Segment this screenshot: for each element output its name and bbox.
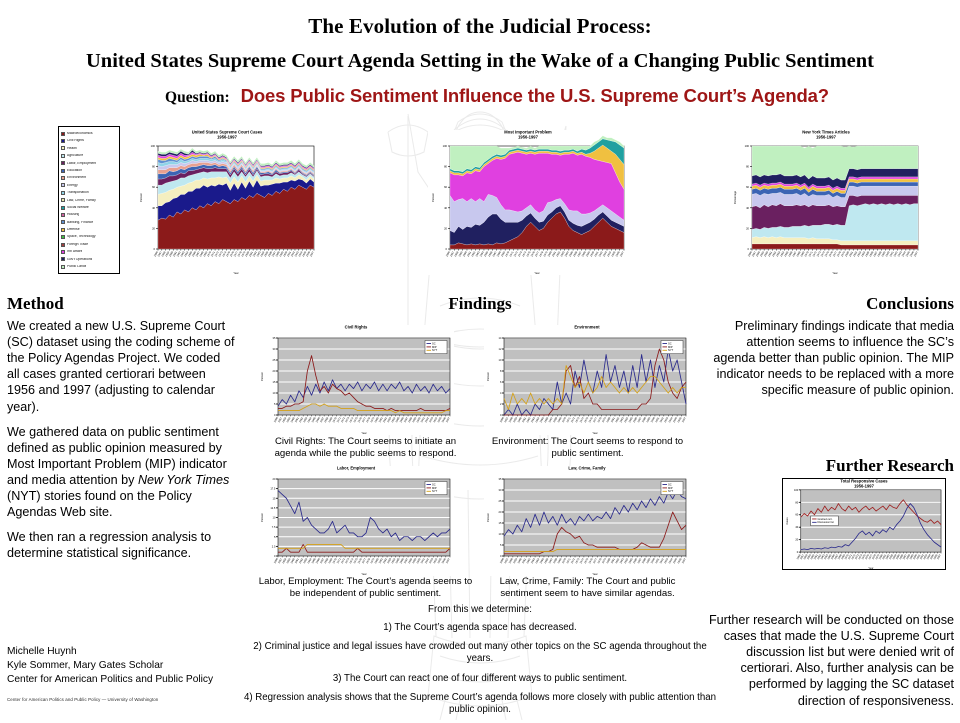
legend-swatch <box>61 161 65 165</box>
svg-text:35: 35 <box>273 336 276 340</box>
svg-text:80: 80 <box>152 165 155 169</box>
svg-text:20: 20 <box>795 538 798 542</box>
svg-text:60: 60 <box>152 185 155 189</box>
legend-item: Int'l Affairs <box>61 248 117 255</box>
svg-text:MIP: MIP <box>668 486 673 490</box>
question-text: Does Public Sentiment Influence the U.S.… <box>241 85 829 107</box>
legend-swatch <box>61 169 65 173</box>
legend-label: Energy <box>67 184 78 187</box>
legend-swatch <box>61 250 65 254</box>
svg-text:Year: Year <box>233 271 238 275</box>
legend-item: Banking, Finance <box>61 219 117 226</box>
svg-text:12: 12 <box>499 347 502 351</box>
further-research-text: Further research will be conducted on th… <box>708 612 954 709</box>
legend-item: Space, Technology <box>61 233 117 240</box>
legend-swatch <box>61 213 65 217</box>
caption-environment: Environment: The Court seems to respond … <box>480 436 695 460</box>
legend-label: Environment <box>67 176 86 179</box>
legend-item: Foreign Trade <box>61 241 117 248</box>
chart-environment-plot: 02468101214Percent1956195719581959196019… <box>484 325 690 435</box>
svg-text:80: 80 <box>746 165 749 169</box>
chart-environment: Environment 02468101214Percent1956195719… <box>484 325 690 435</box>
conclusions-text: Preliminary findings indicate that media… <box>708 318 954 399</box>
svg-text:40: 40 <box>795 525 798 529</box>
legend-label: Space, Technology <box>67 235 96 238</box>
chart-mip-title: Most Important Problem1956-1997 <box>473 130 583 139</box>
legend-label: Int'l Affairs <box>67 250 82 253</box>
svg-text:SC: SC <box>668 341 672 345</box>
findings-heading: Findings <box>0 294 960 314</box>
conclusions-body: Preliminary findings indicate that media… <box>708 318 954 399</box>
chart-nyt-title: New York Times Articles1956-1997 <box>773 130 879 139</box>
caption-law-crime-family: Law, Crime, Family: The Court and public… <box>480 576 695 600</box>
svg-text:14: 14 <box>499 336 502 340</box>
legend-swatch <box>61 257 65 261</box>
legend-label: Agriculture <box>67 154 83 157</box>
svg-text:12.5: 12.5 <box>270 506 276 510</box>
svg-text:2.5: 2.5 <box>272 544 276 548</box>
svg-text:2: 2 <box>500 402 502 406</box>
chart-sc-cases-title: United States Supreme Court Cases1956-19… <box>177 130 277 139</box>
svg-text:0: 0 <box>154 247 156 251</box>
legend-label: Education <box>67 169 82 172</box>
method-p2-part-b: (NYT) stories found on the Policy Agenda… <box>7 489 192 519</box>
method-paragraph-1: We created a new U.S. Supreme Court (SC)… <box>7 318 235 415</box>
legend-item: Environment <box>61 174 117 181</box>
svg-text:Year: Year <box>592 431 597 435</box>
svg-text:15: 15 <box>273 380 276 384</box>
svg-text:NYT: NYT <box>432 348 438 352</box>
legend-label: Banking, Finance <box>67 221 93 224</box>
svg-text:Year: Year <box>534 271 539 275</box>
svg-text:35: 35 <box>499 477 502 481</box>
svg-text:20: 20 <box>746 226 749 230</box>
legend-swatch <box>61 198 65 202</box>
legend-item: Labor, Employment <box>61 160 117 167</box>
legend-item: Social Welfare <box>61 204 117 211</box>
chart-nyt: New York Times Articles1956-1997 0204060… <box>730 130 922 275</box>
svg-text:0: 0 <box>500 413 502 417</box>
legend-swatch <box>61 146 65 150</box>
svg-text:0: 0 <box>797 550 799 554</box>
svg-text:20: 20 <box>152 226 155 230</box>
svg-text:Percent: Percent <box>139 193 143 202</box>
legend-swatch <box>61 176 65 180</box>
svg-text:5: 5 <box>274 402 276 406</box>
svg-text:NYT: NYT <box>668 348 674 352</box>
svg-text:60: 60 <box>444 185 447 189</box>
svg-text:Percentage: Percentage <box>733 190 737 204</box>
chart-civil-rights: Civil Rights 05101520253035Percent195619… <box>258 325 454 435</box>
determination-item: 1) The Court’s agenda space has decrease… <box>240 622 720 634</box>
chart-sc-cases-plot: 020406080100Percent195619571958195919601… <box>136 130 318 275</box>
legend-swatch <box>61 265 65 269</box>
poster-title-line1: The Evolution of the Judicial Process: <box>0 14 960 39</box>
chart-further-research: Total Responsive Cases1956-1997 02040608… <box>782 478 946 570</box>
svg-text:100: 100 <box>745 144 750 148</box>
svg-text:Percent: Percent <box>431 193 435 202</box>
policy-topics-legend: MacroeconomicsCivil RightsHealthAgricult… <box>58 126 120 274</box>
chart-law-crime-family-plot: 05101520253035Percent1956195719581959196… <box>484 466 690 576</box>
svg-text:20: 20 <box>273 369 276 373</box>
legend-swatch <box>61 183 65 187</box>
chart-further-research-plot: 020406080100Cases19561957195819591960196… <box>783 479 945 570</box>
svg-text:40: 40 <box>444 206 447 210</box>
svg-text:10: 10 <box>499 532 502 536</box>
question-label: Question: <box>165 89 230 107</box>
legend-item: Gov't Operations <box>61 256 117 263</box>
poster-title-line2: United States Supreme Court Agenda Setti… <box>0 50 960 73</box>
method-paragraph-2: We gathered data on public sentiment def… <box>7 424 235 521</box>
legend-swatch <box>61 191 65 195</box>
chart-further-research-title: Total Responsive Cases1956-1997 <box>819 479 908 488</box>
svg-text:8: 8 <box>500 369 502 373</box>
poster-header: The Evolution of the Judicial Process: U… <box>0 0 960 107</box>
chart-mip: Most Important Problem1956-1997 02040608… <box>428 130 628 275</box>
svg-text:40: 40 <box>746 206 749 210</box>
legend-item: Public Lands <box>61 263 117 270</box>
svg-text:15: 15 <box>499 521 502 525</box>
svg-text:0: 0 <box>748 247 750 251</box>
svg-text:0: 0 <box>274 413 276 417</box>
legend-swatch <box>61 154 65 158</box>
svg-text:Discussion list: Discussion list <box>818 520 834 524</box>
svg-text:SC: SC <box>432 341 436 345</box>
further-research-body: Further research will be conducted on th… <box>708 612 954 709</box>
svg-text:4: 4 <box>500 391 502 395</box>
svg-text:NYT: NYT <box>668 489 674 493</box>
legend-label: Public Lands <box>67 265 86 268</box>
legend-swatch <box>61 220 65 224</box>
legend-item: Defense <box>61 226 117 233</box>
legend-item: Transportation <box>61 189 117 196</box>
legend-label: Gov't Operations <box>67 258 92 261</box>
svg-text:20: 20 <box>499 510 502 514</box>
svg-text:20: 20 <box>273 477 276 481</box>
svg-text:25: 25 <box>499 499 502 503</box>
legend-item: Law, Crime, Family <box>61 197 117 204</box>
legend-label: Law, Crime, Family <box>67 199 96 202</box>
svg-text:NYT: NYT <box>432 489 438 493</box>
svg-text:10: 10 <box>273 516 276 520</box>
svg-text:Year: Year <box>832 271 837 275</box>
method-paragraph-3: We then ran a regression analysis to det… <box>7 529 235 561</box>
svg-text:20: 20 <box>444 226 447 230</box>
chart-civil-rights-plot: 05101520253035Percent1956195719581959196… <box>258 325 454 435</box>
legend-label: Transportation <box>67 191 89 194</box>
chart-nyt-plot: 020406080100Percentage195619571958195919… <box>730 130 922 275</box>
svg-text:40: 40 <box>152 206 155 210</box>
svg-text:6: 6 <box>500 380 502 384</box>
legend-swatch <box>61 235 65 239</box>
legend-swatch <box>61 139 65 143</box>
svg-text:80: 80 <box>444 165 447 169</box>
caption-civil-rights: Civil Rights: The Court seems to initiat… <box>258 436 473 460</box>
svg-text:17.5: 17.5 <box>270 487 276 491</box>
chart-civil-rights-title: Civil Rights <box>302 325 410 330</box>
svg-text:MIP: MIP <box>668 345 673 349</box>
svg-text:SC: SC <box>432 482 436 486</box>
svg-text:60: 60 <box>746 185 749 189</box>
legend-label: Foreign Trade <box>67 243 88 246</box>
chart-labor-employment-plot: 02.557.51012.51517.520Percent19561957195… <box>258 466 454 576</box>
determinations-lead: From this we determine: <box>240 604 720 615</box>
legend-label: Health <box>67 147 77 150</box>
legend-item: Housing <box>61 211 117 218</box>
determination-item: 4) Regression analysis shows that the Su… <box>240 692 720 716</box>
svg-text:100: 100 <box>794 488 799 492</box>
legend-swatch <box>61 132 65 136</box>
svg-text:Year: Year <box>361 431 366 435</box>
svg-text:0: 0 <box>446 247 448 251</box>
legend-item: Macroeconomics <box>61 130 117 137</box>
svg-text:SC: SC <box>668 482 672 486</box>
svg-text:7.5: 7.5 <box>272 525 276 529</box>
svg-text:100: 100 <box>443 144 448 148</box>
chart-labor-employment: Labor, Employment 02.557.51012.51517.520… <box>258 466 454 576</box>
legend-label: Macroeconomics <box>67 132 93 135</box>
svg-text:Percent: Percent <box>486 513 490 522</box>
legend-item: Energy <box>61 182 117 189</box>
determination-item: 2) Criminal justice and legal issues hav… <box>240 641 720 665</box>
svg-text:5: 5 <box>500 543 502 547</box>
svg-text:25: 25 <box>273 358 276 362</box>
chart-law-crime-family: Law, Crime, Family 05101520253035Percent… <box>484 466 690 576</box>
determinations-list: From this we determine: 1) The Court’s a… <box>240 604 720 723</box>
legend-item: Education <box>61 167 117 174</box>
determination-item: 3) The Court can react one of four diffe… <box>240 673 720 685</box>
svg-text:10: 10 <box>273 391 276 395</box>
legend-item: Health <box>61 145 117 152</box>
svg-text:Percent: Percent <box>260 513 264 522</box>
svg-text:0: 0 <box>274 554 276 558</box>
legend-label: Social Welfare <box>67 206 89 209</box>
conclusions-heading: Conclusions <box>866 294 954 314</box>
research-question-row: Question: Does Public Sentiment Influenc… <box>0 85 960 107</box>
svg-text:15: 15 <box>273 496 276 500</box>
legend-swatch <box>61 228 65 232</box>
svg-text:MIP: MIP <box>432 345 437 349</box>
chart-mip-plot: 020406080100Percent195619571958195919601… <box>428 130 628 275</box>
nyt-title-italic: New York Times <box>138 473 229 487</box>
legend-swatch <box>61 206 65 210</box>
svg-text:30: 30 <box>499 488 502 492</box>
legend-label: Housing <box>67 213 79 216</box>
legend-label: Defense <box>67 228 80 231</box>
legend-label: Civil Rights <box>67 139 84 142</box>
legend-label: Labor, Employment <box>67 162 96 165</box>
method-body: We created a new U.S. Supreme Court (SC)… <box>7 318 235 562</box>
svg-text:Year: Year <box>868 566 873 570</box>
caption-labor-employment: Labor, Employment: The Court’s agenda se… <box>258 576 473 600</box>
legend-item: Agriculture <box>61 152 117 159</box>
svg-text:MIP: MIP <box>432 486 437 490</box>
svg-text:30: 30 <box>273 347 276 351</box>
svg-text:Percent: Percent <box>486 372 490 381</box>
further-research-heading: Further Research <box>826 456 954 476</box>
svg-text:10: 10 <box>499 358 502 362</box>
chart-labor-employment-title: Labor, Employment <box>302 466 410 471</box>
legend-item: Civil Rights <box>61 137 117 144</box>
legend-swatch <box>61 243 65 247</box>
svg-text:100: 100 <box>151 144 156 148</box>
svg-text:80: 80 <box>795 500 798 504</box>
svg-text:Percent: Percent <box>260 372 264 381</box>
svg-text:Cases: Cases <box>785 517 789 525</box>
chart-sc-cases: United States Supreme Court Cases1956-19… <box>136 130 318 275</box>
svg-text:60: 60 <box>795 513 798 517</box>
chart-environment-title: Environment <box>530 325 643 330</box>
svg-text:5: 5 <box>274 535 276 539</box>
chart-law-crime-family-title: Law, Crime, Family <box>530 466 643 471</box>
svg-text:0: 0 <box>500 554 502 558</box>
